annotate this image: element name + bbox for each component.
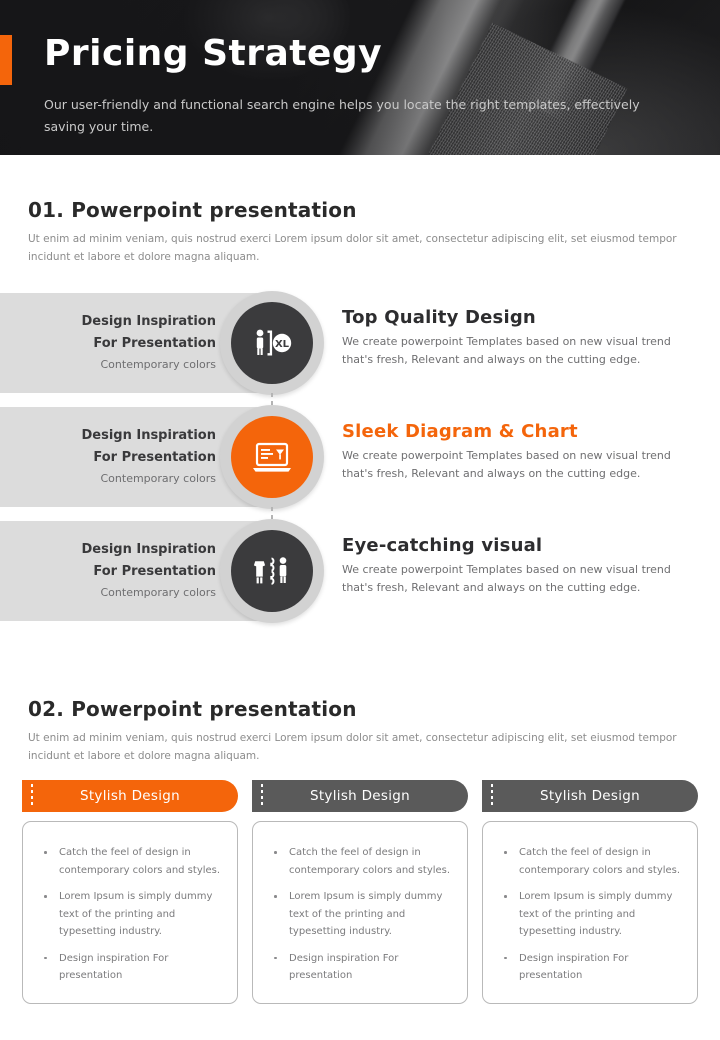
feature-row-icon-disc <box>231 530 313 612</box>
svg-text:XL: XL <box>275 339 290 350</box>
feature-row-icon-badge[interactable]: XL <box>220 291 324 395</box>
feature-row[interactable]: Design Inspiration For Presentation Cont… <box>0 407 720 507</box>
card-header-button-label: Stylish Design <box>540 788 640 804</box>
list-item: Lorem Ipsum is simply dummy text of the … <box>37 888 223 941</box>
list-item: Catch the feel of design in contemporary… <box>37 844 223 879</box>
feature-row-text: Eye-catching visual We create powerpoint… <box>342 535 694 597</box>
dashed-divider-icon <box>261 784 263 808</box>
feature-row-body: We create powerpoint Templates based on … <box>342 561 694 597</box>
accent-bar <box>0 35 12 85</box>
person-size-xl-icon: XL <box>251 327 293 359</box>
feature-row-list: Design Inspiration For Presentation Cont… <box>0 293 720 635</box>
card-header-button[interactable]: Stylish Design <box>22 780 238 812</box>
card-body: Catch the feel of design in contemporary… <box>22 821 238 1004</box>
dashed-divider-icon <box>31 784 33 808</box>
card-header-button[interactable]: Stylish Design <box>482 780 698 812</box>
section-one-title: 01. Powerpoint presentation <box>28 198 694 222</box>
list-item: Lorem Ipsum is simply dummy text of the … <box>497 888 683 941</box>
laptop-chart-icon <box>251 440 293 474</box>
card-header-button-label: Stylish Design <box>80 788 180 804</box>
card-body: Catch the feel of design in contemporary… <box>482 821 698 1004</box>
section-two-header: 02. Powerpoint presentation Ut enim ad m… <box>28 697 694 766</box>
feature-row[interactable]: Design Inspiration For Presentation Cont… <box>0 521 720 621</box>
section-two-title: 02. Powerpoint presentation <box>28 697 694 721</box>
feature-row-label-line2: For Presentation <box>93 561 216 582</box>
card-bullet-list: Catch the feel of design in contemporary… <box>37 844 223 985</box>
section-one-header: 01. Powerpoint presentation Ut enim ad m… <box>28 198 694 267</box>
card-bullet-list: Catch the feel of design in contemporary… <box>497 844 683 985</box>
list-item: Design inspiration For presentation <box>497 950 683 985</box>
card-body: Catch the feel of design in contemporary… <box>252 821 468 1004</box>
section-two-description: Ut enim ad minim veniam, quis nostrud ex… <box>28 729 694 766</box>
people-clothing-icon <box>251 555 293 587</box>
feature-row-label-line1: Design Inspiration <box>81 539 216 560</box>
hero-banner: Pricing Strategy Our user-friendly and f… <box>0 0 720 155</box>
feature-row-label-line2: For Presentation <box>93 447 216 468</box>
list-item: Design inspiration For presentation <box>267 950 453 985</box>
list-item: Lorem Ipsum is simply dummy text of the … <box>267 888 453 941</box>
card: Stylish Design Catch the feel of design … <box>252 780 468 1004</box>
feature-row-labels: Design Inspiration For Presentation Cont… <box>0 407 216 507</box>
feature-row-body: We create powerpoint Templates based on … <box>342 447 694 483</box>
list-item: Design inspiration For presentation <box>37 950 223 985</box>
feature-row-body: We create powerpoint Templates based on … <box>342 333 694 369</box>
feature-row-label-line3: Contemporary colors <box>101 583 217 603</box>
dashed-divider-icon <box>491 784 493 808</box>
feature-row-labels: Design Inspiration For Presentation Cont… <box>0 521 216 621</box>
card: Stylish Design Catch the feel of design … <box>482 780 698 1004</box>
page-subtitle: Our user-friendly and functional search … <box>44 94 684 138</box>
list-item: Catch the feel of design in contemporary… <box>267 844 453 879</box>
feature-row-label-line3: Contemporary colors <box>101 469 217 489</box>
feature-row-icon-badge[interactable] <box>220 519 324 623</box>
feature-row-heading: Sleek Diagram & Chart <box>342 421 694 442</box>
card-header-button-label: Stylish Design <box>310 788 410 804</box>
feature-row[interactable]: Design Inspiration For Presentation Cont… <box>0 293 720 393</box>
feature-row-heading: Top Quality Design <box>342 307 694 328</box>
section-one-description: Ut enim ad minim veniam, quis nostrud ex… <box>28 230 694 267</box>
feature-row-icon-disc: XL <box>231 302 313 384</box>
feature-row-label-line3: Contemporary colors <box>101 355 217 375</box>
feature-row-text: Top Quality Design We create powerpoint … <box>342 307 694 369</box>
feature-row-label-line1: Design Inspiration <box>81 425 216 446</box>
card-bullet-list: Catch the feel of design in contemporary… <box>267 844 453 985</box>
card: Stylish Design Catch the feel of design … <box>22 780 238 1004</box>
feature-row-label-line1: Design Inspiration <box>81 311 216 332</box>
feature-row-text: Sleek Diagram & Chart We create powerpoi… <box>342 421 694 483</box>
feature-row-icon-badge[interactable] <box>220 405 324 509</box>
list-item: Catch the feel of design in contemporary… <box>497 844 683 879</box>
page-title: Pricing Strategy <box>44 34 382 74</box>
card-list: Stylish Design Catch the feel of design … <box>22 780 698 1004</box>
feature-row-heading: Eye-catching visual <box>342 535 694 556</box>
feature-row-icon-disc <box>231 416 313 498</box>
feature-row-label-line2: For Presentation <box>93 333 216 354</box>
card-header-button[interactable]: Stylish Design <box>252 780 468 812</box>
feature-row-labels: Design Inspiration For Presentation Cont… <box>0 293 216 393</box>
